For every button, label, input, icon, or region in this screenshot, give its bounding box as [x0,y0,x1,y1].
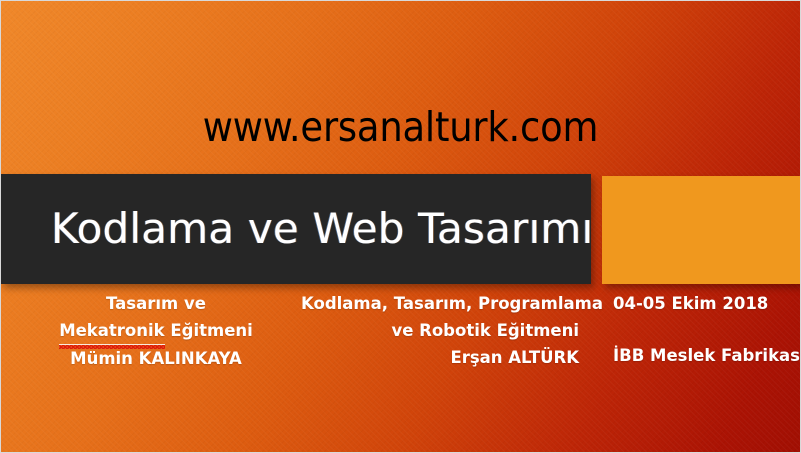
left-credit-line-2-rest: Eğitmeni [165,321,253,340]
event-date: 04-05 Ekim 2018 [613,290,798,317]
middle-credit-name: Erşan ALTÜRK [301,344,579,371]
credit-column-right: 04-05 Ekim 2018 İBB Meslek Fabrikası [613,290,798,369]
left-credit-line-1: Tasarım ve [21,290,291,317]
middle-credit-line-2: ve Robotik Eğitmeni [301,317,579,344]
middle-credit-line-1: Kodlama, Tasarım, Programlama [301,290,579,317]
credits-row: Tasarım ve Mekatronik Eğitmeni Mümin KAL… [1,290,800,390]
accent-color-block [602,176,801,284]
left-credit-line-2: Mekatronik Eğitmeni [21,317,291,345]
event-venue: İBB Meslek Fabrikası [613,342,798,369]
right-column-spacer [613,317,798,342]
credit-column-middle: Kodlama, Tasarım, Programlama ve Robotik… [301,290,579,371]
presentation-slide: www.ersanalturk.com Kodlama ve Web Tasar… [0,0,801,453]
left-credit-name: Mümin KALINKAYA [21,345,291,372]
spellcheck-underlined-word: Mekatronik [59,317,164,345]
credit-column-left: Tasarım ve Mekatronik Eğitmeni Mümin KAL… [21,290,291,372]
slide-title: Kodlama ve Web Tasarımı [51,174,593,284]
title-banner: Kodlama ve Web Tasarımı [1,174,591,284]
website-url-headline: www.ersanalturk.com [1,106,800,149]
